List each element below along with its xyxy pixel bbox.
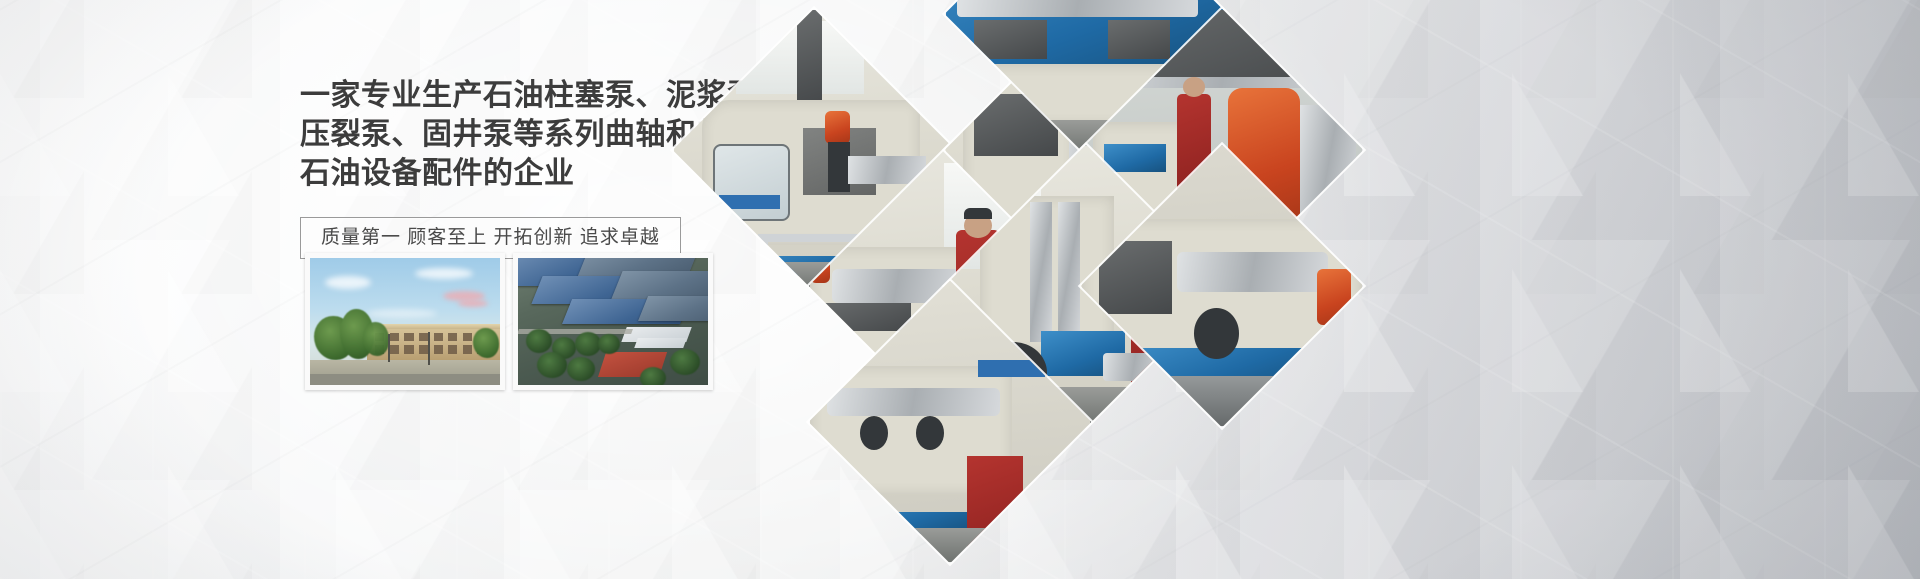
factory-aerial-image	[518, 258, 708, 385]
office-building-image	[310, 258, 500, 385]
hero-banner: 一家专业生产石油柱塞泵、泥浆泵、 压裂泵、固井泵等系列曲轴和其他 石油设备配件的…	[0, 0, 1920, 579]
diamond-photo-collage	[690, 38, 1300, 408]
photo-strip	[305, 253, 713, 390]
headline-line-3: 石油设备配件的企业	[300, 154, 720, 193]
banner-text-block: 一家专业生产石油柱塞泵、泥浆泵、 压裂泵、固井泵等系列曲轴和其他 石油设备配件的…	[300, 76, 720, 259]
photo-office-building[interactable]	[305, 253, 505, 390]
photo-factory-aerial[interactable]	[513, 253, 713, 390]
headline-line-2: 压裂泵、固井泵等系列曲轴和其他	[300, 115, 720, 154]
headline-line-1: 一家专业生产石油柱塞泵、泥浆泵、	[300, 76, 720, 115]
tagline-text: 质量第一 顾客至上 开拓创新 追求卓越	[321, 227, 660, 248]
banner-headline: 一家专业生产石油柱塞泵、泥浆泵、 压裂泵、固井泵等系列曲轴和其他 石油设备配件的…	[300, 76, 720, 193]
